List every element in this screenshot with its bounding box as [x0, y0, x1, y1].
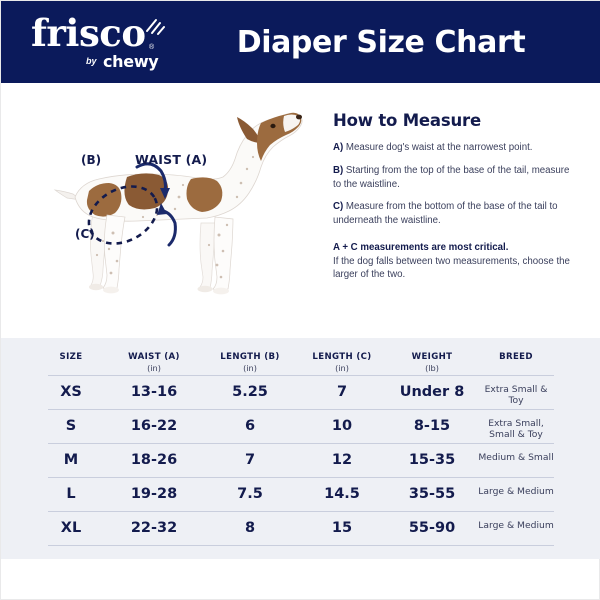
measure-item-a: A) Measure dog's waist at the narrowest … — [333, 141, 573, 155]
measure-item-c: C) Measure from the bottom of the base o… — [333, 200, 573, 228]
measure-text-b: Starting from the top of the base of the… — [333, 165, 569, 190]
cell-waist: 16-22 — [104, 418, 204, 434]
how-to-measure-block: How to Measure A) Measure dog's waist at… — [333, 111, 573, 282]
column-header-size: SIZE — [48, 352, 94, 362]
cell-weight: 8-15 — [386, 418, 478, 434]
table-divider-m — [48, 477, 554, 478]
measure-key-c: C) — [333, 201, 343, 212]
frisco-logo: frisco ® by chewy — [31, 15, 171, 73]
cell-weight: Under 8 — [386, 384, 478, 400]
measure-key-a: A) — [333, 142, 343, 153]
cell-size: M — [48, 452, 94, 468]
cell-waist: 18-26 — [104, 452, 204, 468]
cell-breed: Large & Medium — [478, 486, 554, 497]
cell-waist: 19-28 — [104, 486, 204, 502]
cell-length_c: 14.5 — [296, 486, 388, 502]
table-divider-header — [48, 375, 554, 376]
cell-length_c: 7 — [296, 384, 388, 400]
table-divider-s — [48, 443, 554, 444]
cell-size: XL — [48, 520, 94, 536]
column-header-length-b: LENGTH (B)(in) — [204, 352, 296, 373]
cell-waist: 13-16 — [104, 384, 204, 400]
cell-breed: Extra Small & Toy — [478, 384, 554, 406]
size-chart-page: frisco ® by chewy Diaper Size Chart — [0, 0, 600, 600]
measure-text-c: Measure from the bottom of the base of t… — [333, 201, 558, 226]
column-unit: (in) — [296, 363, 388, 373]
label-waist: WAIST (A) — [135, 152, 207, 167]
cell-weight: 15-35 — [386, 452, 478, 468]
logo-chewy-text: chewy — [103, 52, 158, 71]
table-divider-xl — [48, 545, 554, 546]
measure-section: (B) (C) WAIST (A) How to Measure A) Meas… — [1, 83, 600, 338]
cell-length_b: 5.25 — [204, 384, 296, 400]
cell-length_c: 15 — [296, 520, 388, 536]
cell-length_b: 7 — [204, 452, 296, 468]
cell-weight: 55-90 — [386, 520, 478, 536]
label-b: (B) — [81, 153, 101, 167]
logo-by-text: by — [86, 56, 97, 66]
size-table: SIZEWAIST (A)(in)LENGTH (B)(in)LENGTH (C… — [48, 338, 554, 559]
column-unit: (lb) — [386, 363, 478, 373]
cell-weight: 35-55 — [386, 486, 478, 502]
column-header-waist-a: WAIST (A)(in) — [104, 352, 204, 373]
critical-note-bold: A + C measurements are most critical. — [333, 242, 508, 253]
column-header-length-c: LENGTH (C)(in) — [296, 352, 388, 373]
measure-key-b: B) — [333, 165, 343, 176]
cell-breed: Extra Small, Small & Toy — [478, 418, 554, 440]
size-table-panel: SIZEWAIST (A)(in)LENGTH (B)(in)LENGTH (C… — [1, 338, 600, 559]
critical-note-rest: If the dog falls between two measurement… — [333, 256, 570, 281]
table-divider-l — [48, 511, 554, 512]
how-to-measure-heading: How to Measure — [333, 111, 573, 130]
dog-illustration: (B) (C) WAIST (A) — [51, 105, 316, 305]
dog-figure — [51, 105, 316, 305]
page-title: Diaper Size Chart — [181, 1, 581, 83]
logo-wordmark: frisco — [31, 15, 146, 52]
swoosh-icon — [143, 17, 165, 37]
cell-size: L — [48, 486, 94, 502]
cell-length_c: 12 — [296, 452, 388, 468]
critical-note: A + C measurements are most critical.If … — [333, 241, 573, 282]
measure-text-a: Measure dog's waist at the narrowest poi… — [343, 142, 532, 153]
cell-length_c: 10 — [296, 418, 388, 434]
registered-trademark-icon: ® — [149, 44, 154, 51]
cell-breed: Large & Medium — [478, 520, 554, 531]
measure-item-b: B) Starting from the top of the base of … — [333, 164, 573, 192]
column-unit: (in) — [204, 363, 296, 373]
label-c: (C) — [75, 227, 95, 241]
cell-length_b: 7.5 — [204, 486, 296, 502]
cell-size: S — [48, 418, 94, 434]
page-header: frisco ® by chewy Diaper Size Chart — [1, 1, 600, 83]
cell-length_b: 6 — [204, 418, 296, 434]
cell-size: XS — [48, 384, 94, 400]
table-divider-xs — [48, 409, 554, 410]
column-header-weight: WEIGHT(lb) — [386, 352, 478, 373]
cell-waist: 22-32 — [104, 520, 204, 536]
cell-breed: Medium & Small — [478, 452, 554, 463]
column-unit: (in) — [104, 363, 204, 373]
column-header-breed: BREED — [478, 352, 554, 362]
cell-length_b: 8 — [204, 520, 296, 536]
